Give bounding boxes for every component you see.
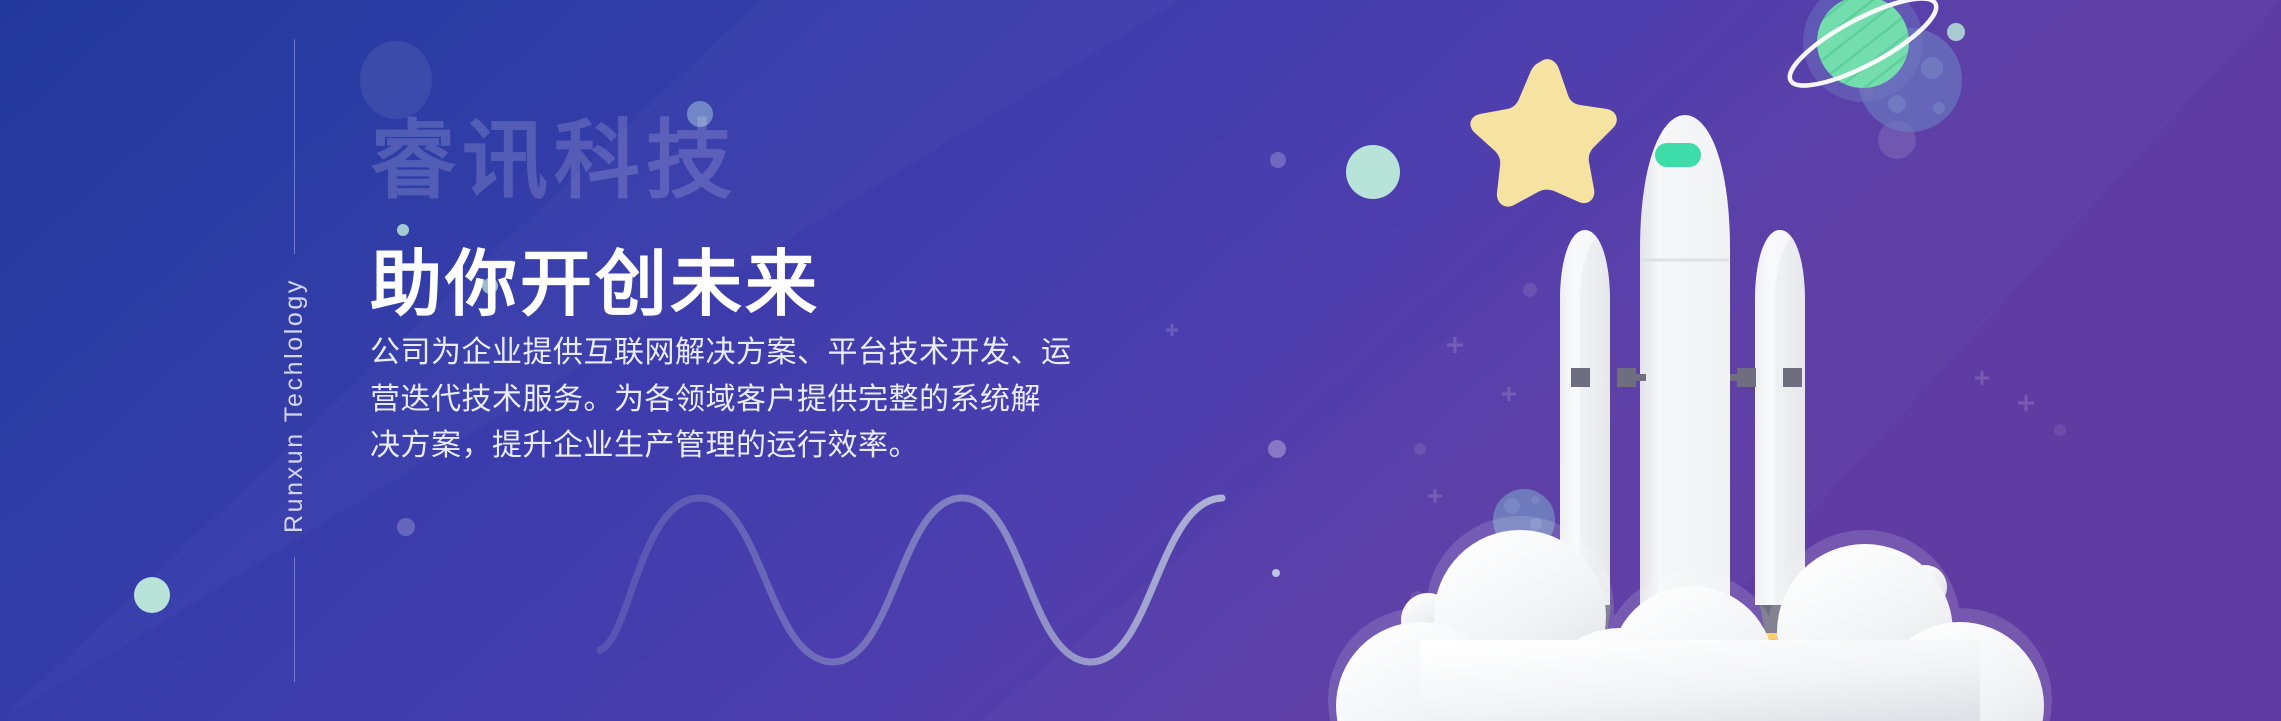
dot — [397, 518, 415, 536]
description-line: 公司为企业提供互联网解决方案、平台技术开发、运 — [370, 330, 1160, 377]
vertical-brand-label: Runxun Techlology — [280, 254, 309, 557]
hero-banner: Runxun Techlology 睿讯科技 助你开创未来 公司为企业提供互联网… — [0, 0, 2281, 721]
dot — [397, 224, 409, 236]
dot — [1523, 283, 1537, 297]
description-line: 决方案，提升企业生产管理的运行效率。 — [370, 423, 1160, 470]
dot — [1268, 440, 1286, 458]
description-text: 公司为企业提供互联网解决方案、平台技术开发、运 营迭代技术服务。为各领域客户提供… — [370, 330, 1160, 470]
dot — [2054, 424, 2066, 436]
brand-rule-bottom — [294, 557, 295, 682]
dot — [1414, 443, 1426, 455]
dot — [687, 101, 713, 127]
dot — [1272, 569, 1280, 577]
dot — [1270, 152, 1286, 168]
brand-rule-top — [294, 39, 295, 254]
dot — [1947, 23, 1965, 41]
vertical-brand: Runxun Techlology — [272, 0, 316, 721]
description-line: 营迭代技术服务。为各领域客户提供完整的系统解 — [370, 377, 1160, 424]
mint-dot — [1346, 145, 1400, 199]
page-title: 助你开创未来 — [370, 249, 820, 321]
mint-dot — [134, 577, 170, 613]
rocket-window — [1655, 143, 1701, 167]
